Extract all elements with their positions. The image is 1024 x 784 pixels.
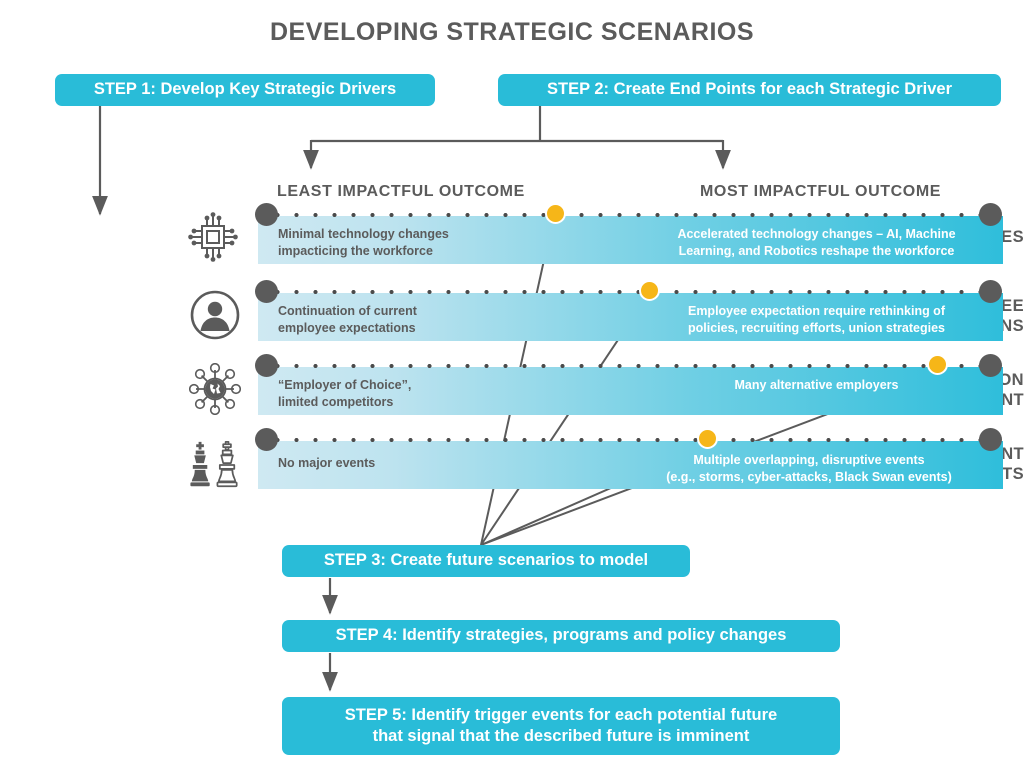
endpoint-dot-most-employee-expectations[interactable] bbox=[979, 280, 1002, 303]
column-header-least-impactful: LEAST IMPACTFUL OUTCOME bbox=[277, 183, 525, 201]
least-outcome-employee-expectations: Continuation of current employee expecta… bbox=[278, 303, 417, 336]
endpoint-dot-most-significant-events[interactable] bbox=[979, 428, 1002, 451]
column-header-most-impactful: MOST IMPACTFUL OUTCOME bbox=[700, 183, 941, 201]
step-3-box[interactable]: STEP 3: Create future scenarios to model bbox=[282, 545, 690, 577]
driver-dotline-employee-expectations bbox=[258, 289, 1003, 295]
step-5-box[interactable]: STEP 5: Identify trigger events for each… bbox=[282, 697, 840, 755]
scenario-marker-technologies[interactable] bbox=[545, 203, 566, 224]
driver-dotline-significant-events bbox=[258, 437, 1003, 443]
step-5-label-line2: that signal that the described future is… bbox=[345, 726, 777, 747]
scenario-marker-employee-expectations[interactable] bbox=[639, 280, 660, 301]
scenario-marker-significant-events[interactable] bbox=[697, 428, 718, 449]
endpoint-dot-least-technologies[interactable] bbox=[255, 203, 278, 226]
endpoint-dot-most-competition-for-talent[interactable] bbox=[979, 354, 1002, 377]
most-outcome-competition-for-talent: Many alternative employers bbox=[634, 377, 999, 394]
driver-dotline-competition-for-talent bbox=[258, 363, 1003, 369]
most-outcome-significant-events: Multiple overlapping, disruptive events … bbox=[619, 452, 999, 485]
endpoint-dot-least-employee-expectations[interactable] bbox=[255, 280, 278, 303]
chess-pieces-icon bbox=[188, 438, 242, 492]
endpoint-dot-most-technologies[interactable] bbox=[979, 203, 1002, 226]
step-2-label: STEP 2: Create End Points for each Strat… bbox=[547, 79, 952, 100]
step-1-box[interactable]: STEP 1: Develop Key Strategic Drivers bbox=[55, 74, 435, 106]
most-outcome-employee-expectations: Employee expectation require rethinking … bbox=[634, 303, 999, 336]
step-4-box[interactable]: STEP 4: Identify strategies, programs an… bbox=[282, 620, 840, 652]
endpoint-dot-least-significant-events[interactable] bbox=[255, 428, 278, 451]
scenario-marker-competition-for-talent[interactable] bbox=[927, 354, 948, 375]
least-outcome-technologies: Minimal technology changes impacticing t… bbox=[278, 226, 449, 259]
step-4-label: STEP 4: Identify strategies, programs an… bbox=[336, 625, 787, 646]
step-1-label: STEP 1: Develop Key Strategic Drivers bbox=[94, 79, 396, 100]
driver-dotline-technologies bbox=[258, 212, 1003, 218]
most-outcome-technologies: Accelerated technology changes – AI, Mac… bbox=[634, 226, 999, 259]
step-3-label: STEP 3: Create future scenarios to model bbox=[324, 550, 648, 571]
person-avatar-icon bbox=[188, 288, 242, 342]
diagram-canvas: DEVELOPING STRATEGIC SCENARIOS bbox=[0, 0, 1024, 784]
endpoint-dot-least-competition-for-talent[interactable] bbox=[255, 354, 278, 377]
least-outcome-significant-events: No major events bbox=[278, 455, 375, 472]
microchip-icon bbox=[186, 210, 240, 264]
arrow-step2-branch bbox=[311, 106, 723, 168]
step-2-box[interactable]: STEP 2: Create End Points for each Strat… bbox=[498, 74, 1001, 106]
globe-network-icon bbox=[188, 362, 242, 416]
least-outcome-competition-for-talent: “Employer of Choice”, limited competitor… bbox=[278, 377, 411, 410]
step-5-label-line1: STEP 5: Identify trigger events for each… bbox=[345, 705, 777, 726]
